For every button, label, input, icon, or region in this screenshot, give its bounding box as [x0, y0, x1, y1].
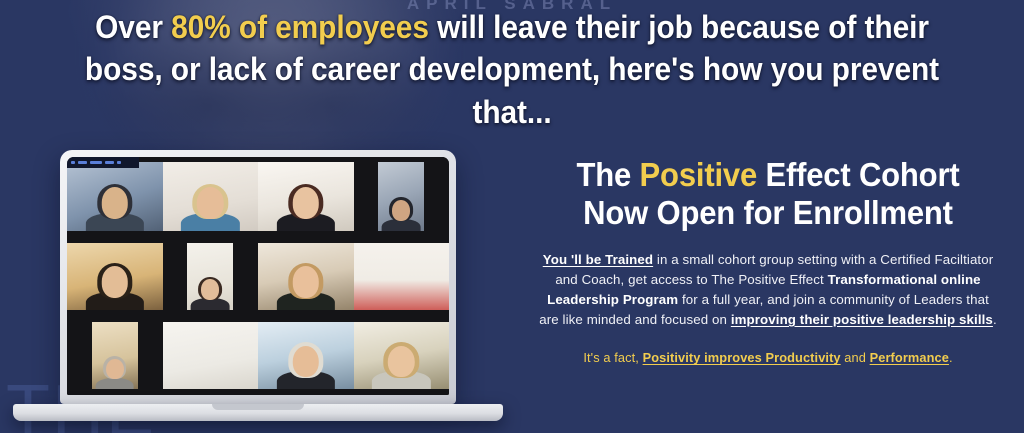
video-call-toolbar	[67, 157, 139, 168]
tile-letterbox	[258, 157, 354, 162]
fact-text-1: It's a fact,	[583, 350, 642, 365]
participant-tile-5[interactable]	[67, 236, 163, 315]
video-grid-row	[67, 316, 449, 395]
tile-letterbox	[67, 236, 163, 242]
tile-letterbox	[67, 389, 163, 395]
participant-figure	[281, 187, 331, 236]
tile-letterbox	[354, 316, 450, 322]
participant-figure	[376, 346, 426, 395]
tile-letterbox	[163, 316, 259, 322]
participant-figure	[281, 266, 331, 315]
laptop-lid	[60, 150, 456, 404]
tile-letterbox	[163, 236, 188, 315]
participant-face	[292, 346, 319, 378]
offer-title: The Positive Effect Cohort Now Open for …	[550, 156, 986, 233]
fact-link-performance[interactable]: Performance	[870, 350, 949, 365]
participant-tile-4[interactable]	[354, 157, 450, 236]
video-grid-row	[67, 236, 449, 315]
participant-background	[163, 316, 259, 395]
tile-letterbox	[67, 316, 92, 395]
tile-letterbox	[354, 236, 450, 242]
tile-letterbox	[258, 316, 354, 322]
headline-accent: 80% of employees	[171, 9, 429, 45]
tile-letterbox	[354, 157, 450, 162]
participant-face	[197, 187, 224, 219]
participant-tile-2[interactable]	[163, 157, 259, 236]
offer-title-1a: The	[577, 156, 640, 193]
participant-face	[106, 359, 124, 380]
participant-figure	[281, 346, 331, 395]
participant-tile-12[interactable]	[354, 316, 450, 395]
participant-face	[292, 266, 319, 298]
participant-tile-1[interactable]	[67, 157, 163, 236]
offer-title-line-2: Now Open for Enrollment	[550, 194, 986, 232]
participant-figure	[90, 187, 140, 236]
participant-face	[388, 346, 415, 378]
tile-letterbox	[67, 316, 163, 322]
fact-link-productivity[interactable]: Positivity improves Productivity	[643, 350, 841, 365]
participant-tile-3[interactable]	[258, 157, 354, 236]
offer-fact-line: It's a fact, Positivity improves Product…	[536, 348, 1000, 367]
participant-figure	[90, 266, 140, 315]
laptop-base	[13, 404, 503, 421]
participant-face	[201, 279, 219, 300]
toolbar-dot-icon	[105, 161, 114, 164]
participant-face	[392, 200, 410, 221]
offer-title-1b: Effect Cohort	[757, 156, 959, 193]
fact-text-3: .	[949, 350, 953, 365]
tile-letterbox	[354, 389, 450, 395]
participant-face	[292, 187, 319, 219]
participant-face	[101, 266, 128, 298]
page-headline: Over 80% of employees will leave their j…	[41, 6, 983, 133]
video-grid-row	[67, 157, 449, 236]
offer-panel: The Positive Effect Cohort Now Open for …	[512, 156, 1024, 368]
video-call-grid	[67, 157, 449, 395]
offer-description: You 'll be Trained in a small cohort gro…	[536, 250, 1000, 331]
laptop-mockup	[60, 150, 456, 421]
participant-tile-7[interactable]	[258, 236, 354, 315]
promo-banner: APRIL SABRAL THE Over 80% of employees w…	[0, 0, 1024, 433]
tile-letterbox	[258, 389, 354, 395]
participant-tile-10[interactable]	[163, 316, 259, 395]
tile-letterbox	[424, 157, 449, 236]
tile-letterbox	[233, 236, 258, 315]
offer-link-skills[interactable]: improving their positive leadership skil…	[731, 312, 993, 327]
headline-part-1: Over	[95, 9, 171, 45]
offer-title-accent: Positive	[640, 156, 757, 193]
offer-link-trained[interactable]: You 'll be Trained	[543, 252, 653, 267]
tile-letterbox	[258, 236, 354, 242]
toolbar-dot-icon	[71, 161, 75, 164]
offer-title-line-1: The Positive Effect Cohort	[550, 156, 986, 194]
laptop-notch	[212, 404, 304, 410]
participant-tile-9[interactable]	[67, 316, 163, 395]
participant-face	[101, 187, 128, 219]
toolbar-dot-icon	[90, 161, 102, 164]
tile-letterbox	[354, 157, 379, 236]
participant-tile-11[interactable]	[258, 316, 354, 395]
laptop-screen	[67, 157, 449, 395]
tile-letterbox	[163, 236, 259, 242]
toolbar-dot-icon	[117, 161, 121, 164]
fact-text-2: and	[841, 350, 870, 365]
participant-tile-8[interactable]	[354, 236, 450, 315]
tile-letterbox	[138, 316, 163, 395]
offer-text-3: .	[993, 312, 997, 327]
tile-letterbox	[163, 157, 259, 162]
participant-tile-6[interactable]	[163, 236, 259, 315]
participant-figure	[185, 187, 235, 236]
toolbar-dot-icon	[78, 161, 87, 164]
tile-letterbox	[163, 389, 259, 395]
participant-background	[354, 236, 450, 315]
